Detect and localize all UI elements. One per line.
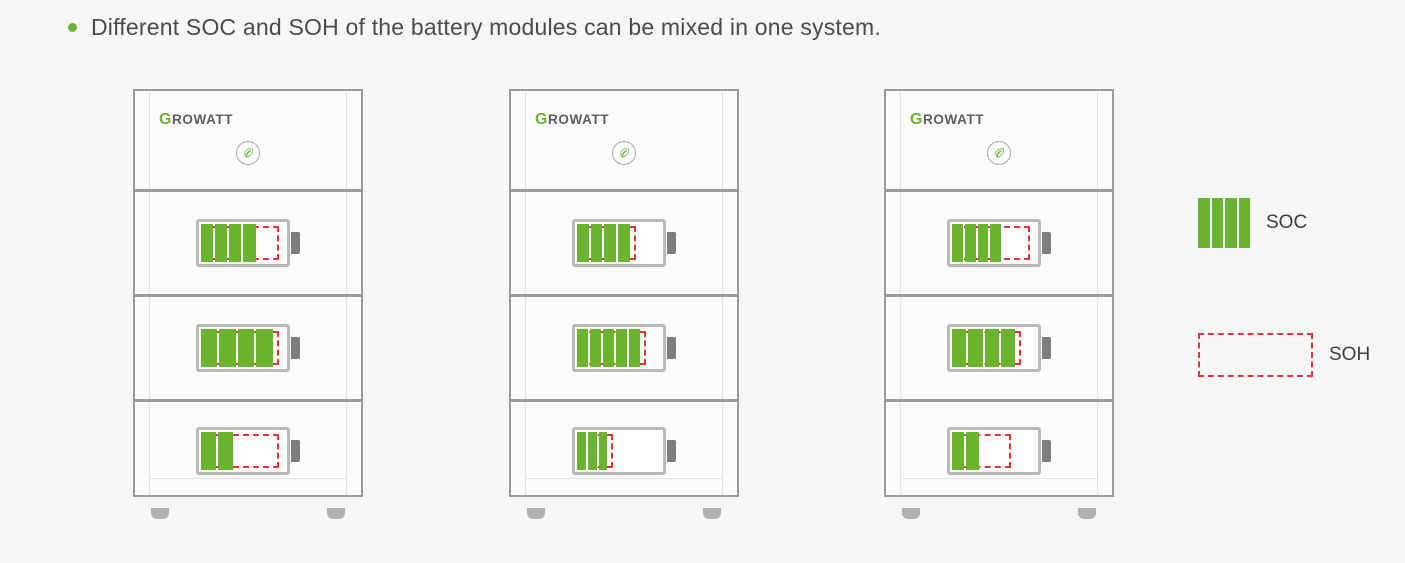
battery-body	[196, 427, 290, 475]
battery-module	[511, 192, 737, 297]
cabinet-foot	[151, 508, 169, 519]
headline-text: Different SOC and SOH of the battery mod…	[91, 14, 881, 41]
soc-bar	[577, 432, 586, 470]
soc-bar	[952, 432, 964, 470]
soc-bar	[243, 224, 255, 262]
cabinet-foot	[1078, 508, 1096, 519]
cabinet-header-module: GROWATT	[511, 91, 737, 192]
soc-green-bars-icon	[1198, 198, 1250, 248]
soc-bar	[1001, 329, 1015, 367]
bullet-dot-icon	[68, 23, 77, 32]
battery-indicator	[572, 324, 676, 372]
cabinet-frame: GROWATT	[884, 89, 1114, 497]
cabinet-header-module: GROWATT	[135, 91, 361, 192]
soc-bar	[952, 329, 966, 367]
soc-bar	[256, 329, 272, 367]
soc-fill	[199, 327, 275, 369]
battery-terminal-cap	[1042, 232, 1051, 254]
cabinet-base-line	[900, 478, 1098, 479]
soc-bar	[591, 224, 603, 262]
battery-body	[947, 324, 1041, 372]
logo-initial: G	[535, 111, 548, 128]
logo-initial: G	[159, 111, 172, 128]
battery-terminal-cap	[291, 337, 300, 359]
soc-bar	[978, 224, 989, 262]
battery-module	[511, 402, 737, 499]
leaf-icon-glyph	[618, 147, 631, 160]
growatt-logo: GROWATT	[910, 111, 984, 129]
soc-fill	[575, 222, 632, 264]
soc-bar	[604, 224, 616, 262]
leaf-icon-glyph	[993, 147, 1006, 160]
battery-terminal-cap	[667, 440, 676, 462]
battery-terminal-cap	[667, 232, 676, 254]
leaf-icon	[236, 141, 260, 165]
battery-module	[886, 402, 1112, 499]
soc-bar	[985, 329, 999, 367]
soc-bar	[590, 329, 601, 367]
soc-fill	[575, 430, 609, 472]
soc-fill	[950, 430, 981, 472]
legend-item-soc: SOC	[1198, 198, 1307, 248]
battery-body	[196, 219, 290, 267]
battery-indicator	[196, 324, 300, 372]
cabinet-foot	[703, 508, 721, 519]
battery-body	[572, 219, 666, 267]
battery-terminal-cap	[1042, 337, 1051, 359]
soc-bar	[577, 329, 588, 367]
battery-cabinet-1: GROWATT	[133, 89, 363, 519]
soc-bar	[990, 224, 1001, 262]
soc-bar	[238, 329, 254, 367]
battery-module	[135, 192, 361, 297]
cabinet-frame: GROWATT	[133, 89, 363, 497]
logo-wordmark: ROWATT	[172, 112, 233, 127]
battery-terminal-cap	[291, 232, 300, 254]
cabinet-base-line	[525, 478, 723, 479]
soh-dashed-box-icon	[1198, 333, 1313, 377]
battery-cabinet-2: GROWATT	[509, 89, 739, 519]
soc-bar	[952, 224, 963, 262]
growatt-logo: GROWATT	[535, 111, 609, 129]
soc-fill	[199, 430, 235, 472]
logo-wordmark: ROWATT	[548, 112, 609, 127]
legend-soc-bar	[1225, 198, 1237, 248]
legend-label-soh: SOH	[1329, 344, 1370, 366]
leaf-icon-glyph	[242, 147, 255, 160]
soc-bar	[965, 224, 976, 262]
legend-soc-bar	[1198, 198, 1210, 248]
cabinet-frame: GROWATT	[509, 89, 739, 497]
cabinet-header-module: GROWATT	[886, 91, 1112, 192]
battery-module	[135, 402, 361, 499]
soc-bar	[603, 329, 614, 367]
leaf-icon	[987, 141, 1011, 165]
soc-fill	[950, 222, 1003, 264]
logo-initial: G	[910, 111, 923, 128]
battery-module	[886, 192, 1112, 297]
battery-module	[511, 297, 737, 402]
soc-bar	[599, 432, 608, 470]
soc-bar	[218, 432, 233, 470]
battery-terminal-cap	[1042, 440, 1051, 462]
battery-body	[572, 427, 666, 475]
battery-body	[947, 427, 1041, 475]
soc-bar	[219, 329, 235, 367]
battery-indicator	[572, 427, 676, 475]
battery-terminal-cap	[291, 440, 300, 462]
logo-wordmark: ROWATT	[923, 112, 984, 127]
battery-terminal-cap	[667, 337, 676, 359]
soc-bar	[616, 329, 627, 367]
cabinet-foot	[527, 508, 545, 519]
battery-indicator	[947, 219, 1051, 267]
soc-bar	[966, 432, 978, 470]
battery-body	[196, 324, 290, 372]
soc-bar	[618, 224, 630, 262]
soc-bar	[229, 224, 241, 262]
growatt-logo: GROWATT	[159, 111, 233, 129]
headline: Different SOC and SOH of the battery mod…	[68, 14, 881, 41]
battery-indicator	[196, 219, 300, 267]
soc-bar	[968, 329, 982, 367]
soc-bar	[201, 432, 216, 470]
battery-cabinet-3: GROWATT	[884, 89, 1114, 519]
soc-bar	[215, 224, 227, 262]
soc-bar	[577, 224, 589, 262]
battery-indicator	[572, 219, 676, 267]
cabinet-foot	[327, 508, 345, 519]
battery-body	[947, 219, 1041, 267]
legend-item-soh: SOH	[1198, 333, 1370, 377]
cabinet-foot	[902, 508, 920, 519]
soc-bar	[201, 224, 213, 262]
soc-fill	[575, 327, 642, 369]
battery-module	[135, 297, 361, 402]
battery-indicator	[947, 324, 1051, 372]
leaf-icon	[612, 141, 636, 165]
battery-indicator	[196, 427, 300, 475]
battery-indicator	[947, 427, 1051, 475]
legend-soc-bar	[1212, 198, 1224, 248]
soc-bar	[201, 329, 217, 367]
cabinet-base-line	[149, 478, 347, 479]
battery-body	[572, 324, 666, 372]
soc-fill	[950, 327, 1017, 369]
legend-soc-bar	[1239, 198, 1251, 248]
battery-module	[886, 297, 1112, 402]
soc-bar	[588, 432, 597, 470]
soc-bar	[629, 329, 640, 367]
soc-fill	[199, 222, 257, 264]
legend-label-soc: SOC	[1266, 212, 1307, 234]
